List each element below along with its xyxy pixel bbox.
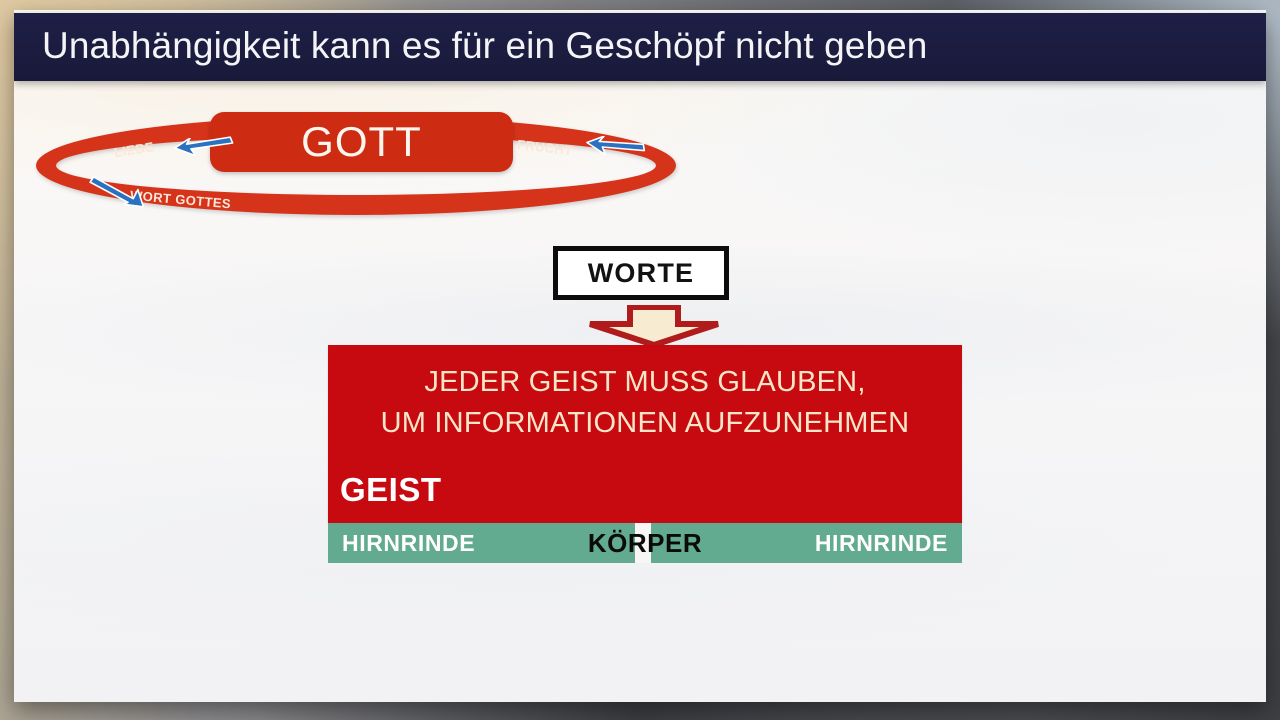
worte-box: WORTE	[553, 246, 729, 300]
body-segment-right: HIRNRINDE	[651, 523, 962, 563]
slide-canvas: Unabhängigkeit kann es für ein Geschöpf …	[14, 10, 1266, 702]
geist-statement: JEDER GEIST MUSS GLAUBEN, UM INFORMATION…	[328, 362, 962, 444]
gott-box: GOTT	[210, 112, 513, 172]
gott-label: GOTT	[210, 112, 513, 172]
worte-label: WORTE	[588, 258, 695, 289]
body-bar-gap	[635, 523, 651, 563]
geist-title: GEIST	[340, 471, 442, 509]
geist-statement-line-1: JEDER GEIST MUSS GLAUBEN,	[328, 362, 962, 403]
arrow-down-icon	[586, 305, 722, 347]
geist-statement-line-2: UM INFORMATIONEN AUFZUNEHMEN	[328, 403, 962, 444]
hirnrinde-label-right: HIRNRINDE	[815, 530, 948, 557]
body-segment-left: HIRNRINDE	[328, 523, 635, 563]
hirnrinde-label-left: HIRNRINDE	[342, 530, 475, 557]
geist-block: JEDER GEIST MUSS GLAUBEN, UM INFORMATION…	[328, 345, 962, 523]
cycle-diagram: GOTT LIEBE WORT GOTTES FRUCHT	[36, 110, 696, 228]
slide-title-bar: Unabhängigkeit kann es für ein Geschöpf …	[14, 13, 1266, 81]
body-bar: HIRNRINDE HIRNRINDE KÖRPER	[328, 523, 962, 563]
slide-title: Unabhängigkeit kann es für ein Geschöpf …	[42, 25, 927, 67]
arrow-left-icon	[172, 135, 236, 164]
presentation-frame: Unabhängigkeit kann es für ein Geschöpf …	[0, 0, 1280, 720]
